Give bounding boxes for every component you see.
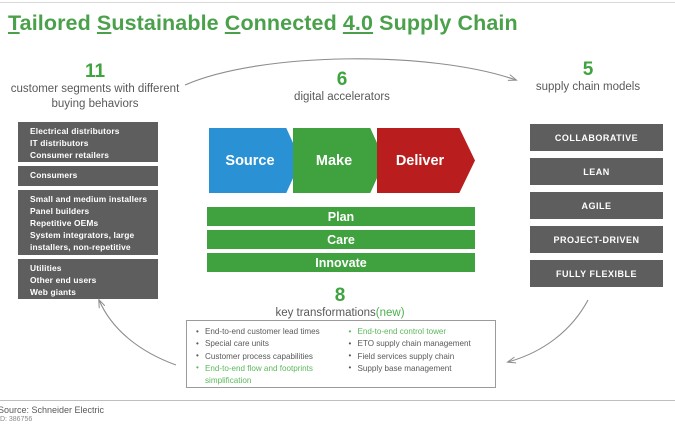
arrow-right-to-bottom <box>508 300 588 362</box>
page-title: Tailored Sustainable Connected 4.0 Suppl… <box>8 11 518 36</box>
process-chevron-source[interactable]: Source <box>209 128 301 193</box>
footer-id: ID: 386756 <box>0 416 32 423</box>
title-segment-tailored: Tailored <box>8 11 97 35</box>
transformations-left-column: End-to-end customer lead times Special c… <box>187 326 343 387</box>
transformation-item[interactable]: Special care units <box>196 338 343 350</box>
footer-source: Source: Schneider Electric <box>0 405 104 415</box>
model-label: AGILE <box>581 201 611 211</box>
process-chevron-make[interactable]: Make <box>293 128 385 193</box>
transformation-item-line1: End-to-end flow and footprints <box>205 364 313 373</box>
title-segment-sustainable: Sustainable <box>97 11 225 35</box>
bottom-label-main: key transformations <box>275 307 375 319</box>
key-transformations-box: End-to-end customer lead times Special c… <box>186 320 496 388</box>
segment-line: Panel builders <box>30 206 158 218</box>
transformations-right-column: End-to-end control tower ETO supply chai… <box>343 326 496 387</box>
transformation-item[interactable]: End-to-end control tower <box>349 326 496 338</box>
process-bar-plan[interactable]: Plan <box>207 207 475 226</box>
title-segment-fourzero: 4.0 Supply Chain <box>343 11 518 35</box>
left-section-label: customer segments with different buying … <box>6 82 184 111</box>
arrow-bottom-to-left <box>99 300 176 365</box>
bottom-section-header: 8 key transformations(new) <box>240 286 440 321</box>
supply-chain-model-fully-flexible[interactable]: FULLY FLEXIBLE <box>530 260 663 287</box>
transformation-item[interactable]: End-to-end customer lead times <box>196 326 343 338</box>
segment-line: Small and medium installers <box>30 194 158 206</box>
right-section-label: supply chain models <box>505 80 671 95</box>
transformation-item-line2: simplification <box>205 375 343 387</box>
model-label: FULLY FLEXIBLE <box>556 269 637 279</box>
process-bar-care[interactable]: Care <box>207 230 475 249</box>
title-divider <box>0 2 675 3</box>
transformation-item[interactable]: Customer process capabilities <box>196 351 343 363</box>
transformation-item[interactable]: End-to-end flow and footprintssimplifica… <box>196 363 343 388</box>
center-section-label: digital accelerators <box>252 90 432 105</box>
segment-line: IT distributors <box>30 138 158 150</box>
model-label: LEAN <box>583 167 610 177</box>
segment-line: installers, non-repetitive <box>30 242 158 254</box>
customer-segment-box[interactable]: Utilities Other end users Web giants <box>18 259 158 299</box>
bar-label: Plan <box>328 210 354 224</box>
transformation-item[interactable]: ETO supply chain management <box>349 338 496 350</box>
process-bar-innovate[interactable]: Innovate <box>207 253 475 272</box>
segment-line: Other end users <box>30 275 158 287</box>
transformation-item[interactable]: Supply base management <box>349 363 496 375</box>
segment-line: Web giants <box>30 287 158 299</box>
chevron-label: Deliver <box>396 153 444 169</box>
process-chevron-deliver[interactable]: Deliver <box>377 128 475 193</box>
customer-segment-box[interactable]: Small and medium installers Panel builde… <box>18 190 158 255</box>
supply-chain-model-collaborative[interactable]: COLLABORATIVE <box>530 124 663 151</box>
title-segment-connected: Connected <box>225 11 343 35</box>
segment-line: Electrical distributors <box>30 126 158 138</box>
center-section-header: 6 digital accelerators <box>252 70 432 105</box>
segment-line: System integrators, large <box>30 230 158 242</box>
bar-label: Care <box>327 233 355 247</box>
supply-chain-model-project-driven[interactable]: PROJECT-DRIVEN <box>530 226 663 253</box>
footer-divider <box>0 400 675 401</box>
segment-line: Consumers <box>30 170 158 182</box>
model-label: COLLABORATIVE <box>555 133 638 143</box>
model-label: PROJECT-DRIVEN <box>553 235 639 245</box>
right-section-number: 5 <box>505 60 671 80</box>
left-section-number: 11 <box>6 62 184 82</box>
customer-segment-box[interactable]: Consumers <box>18 166 158 186</box>
bar-label: Innovate <box>315 256 366 270</box>
center-section-number: 6 <box>252 70 432 90</box>
customer-segment-box[interactable]: Electrical distributors IT distributors … <box>18 122 158 162</box>
segment-line: Repetitive OEMs <box>30 218 158 230</box>
right-section-header: 5 supply chain models <box>505 60 671 95</box>
supply-chain-model-agile[interactable]: AGILE <box>530 192 663 219</box>
segment-line: Consumer retailers <box>30 150 158 162</box>
slide-canvas: Tailored Sustainable Connected 4.0 Suppl… <box>0 0 675 434</box>
chevron-label: Source <box>225 153 274 169</box>
chevron-label: Make <box>316 153 352 169</box>
bottom-section-label: key transformations(new) <box>240 306 440 321</box>
bottom-section-number: 8 <box>240 286 440 306</box>
segment-line: Utilities <box>30 263 158 275</box>
bottom-label-new: (new) <box>376 307 405 319</box>
supply-chain-model-lean[interactable]: LEAN <box>530 158 663 185</box>
transformation-item[interactable]: Field services supply chain <box>349 351 496 363</box>
left-section-header: 11 customer segments with different buyi… <box>6 62 184 111</box>
